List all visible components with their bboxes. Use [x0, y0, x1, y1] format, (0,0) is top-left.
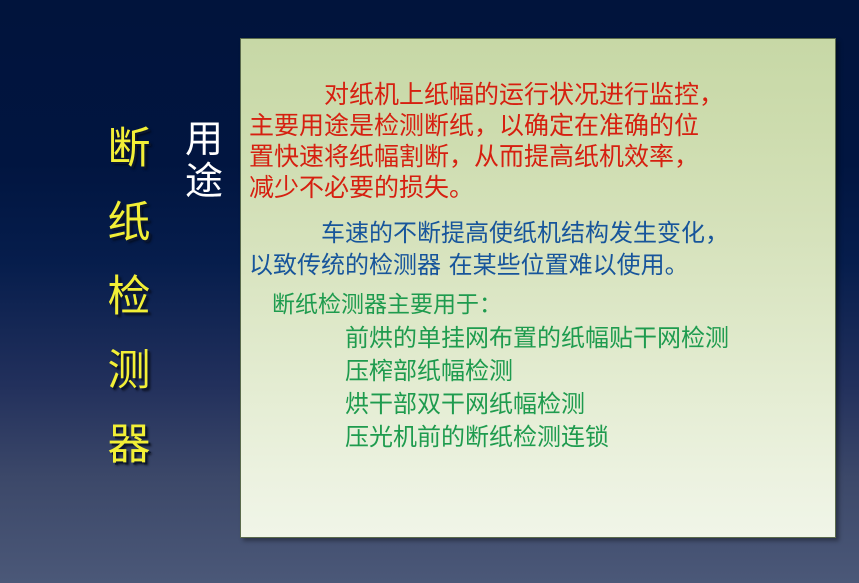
purpose-text-block: 对纸机上纸幅的运行状况进行监控， 主要用途是检测断纸，以确定在准确的位 置快速将… — [249, 79, 835, 203]
background-note-line-1: 车速的不断提高使纸机结构发生变化， — [249, 217, 835, 249]
applications-item-4-indent — [249, 423, 345, 451]
applications-item-2: 压榨部纸幅检测 — [249, 355, 835, 388]
vertical-title-char-5: 器 — [108, 408, 151, 482]
background-note-line-2: 以致传统的检测器 在某些位置难以使用。 — [249, 249, 835, 281]
vertical-title-char-1: 断 — [108, 112, 151, 186]
applications-item-2-indent — [249, 357, 345, 385]
content-panel: 对纸机上纸幅的运行状况进行监控， 主要用途是检测断纸，以确定在准确的位 置快速将… — [240, 38, 836, 538]
background-note-block: 车速的不断提高使纸机结构发生变化， 以致传统的检测器 在某些位置难以使用。 — [249, 217, 835, 281]
applications-item-1-label: 前烘的单挂网布置的纸幅贴干网检测 — [345, 324, 729, 352]
slide-canvas: 断 纸 检 测 器 用 途 对纸机上纸幅的运行状况进行监控， 主要用途是检测断纸… — [0, 0, 859, 583]
vertical-title-char-3: 检 — [108, 260, 151, 334]
purpose-line-2: 主要用途是检测断纸，以确定在准确的位 — [249, 110, 835, 141]
applications-item-1-indent — [249, 324, 345, 352]
subtitle-char-2: 途 — [185, 160, 223, 202]
applications-block: 断纸检测器主要用于： 前烘的单挂网布置的纸幅贴干网检测 压榨部纸幅检测 烘干部双… — [249, 289, 835, 454]
applications-item-2-label: 压榨部纸幅检测 — [345, 357, 513, 385]
applications-item-3-label: 烘干部双干网纸幅检测 — [345, 390, 585, 418]
purpose-line-4: 减少不必要的损失。 — [249, 172, 835, 203]
applications-item-1: 前烘的单挂网布置的纸幅贴干网检测 — [249, 322, 835, 355]
purpose-line-1: 对纸机上纸幅的运行状况进行监控， — [249, 79, 835, 110]
applications-item-4: 压光机前的断纸检测连锁 — [249, 421, 835, 454]
subtitle-char-1: 用 — [185, 118, 223, 160]
purpose-line-3: 置快速将纸幅割断，从而提高纸机效率， — [249, 141, 835, 172]
vertical-title-char-4: 测 — [108, 334, 151, 408]
applications-lead: 断纸检测器主要用于： — [249, 289, 835, 322]
applications-item-3-indent — [249, 390, 345, 418]
applications-item-3: 烘干部双干网纸幅检测 — [249, 388, 835, 421]
applications-item-4-label: 压光机前的断纸检测连锁 — [345, 423, 609, 451]
vertical-title-char-2: 纸 — [108, 186, 151, 260]
subtitle: 用 途 — [176, 118, 232, 202]
vertical-title: 断 纸 检 测 器 — [100, 112, 158, 482]
content-panel-inner: 对纸机上纸幅的运行状况进行监控， 主要用途是检测断纸，以确定在准确的位 置快速将… — [241, 39, 835, 537]
